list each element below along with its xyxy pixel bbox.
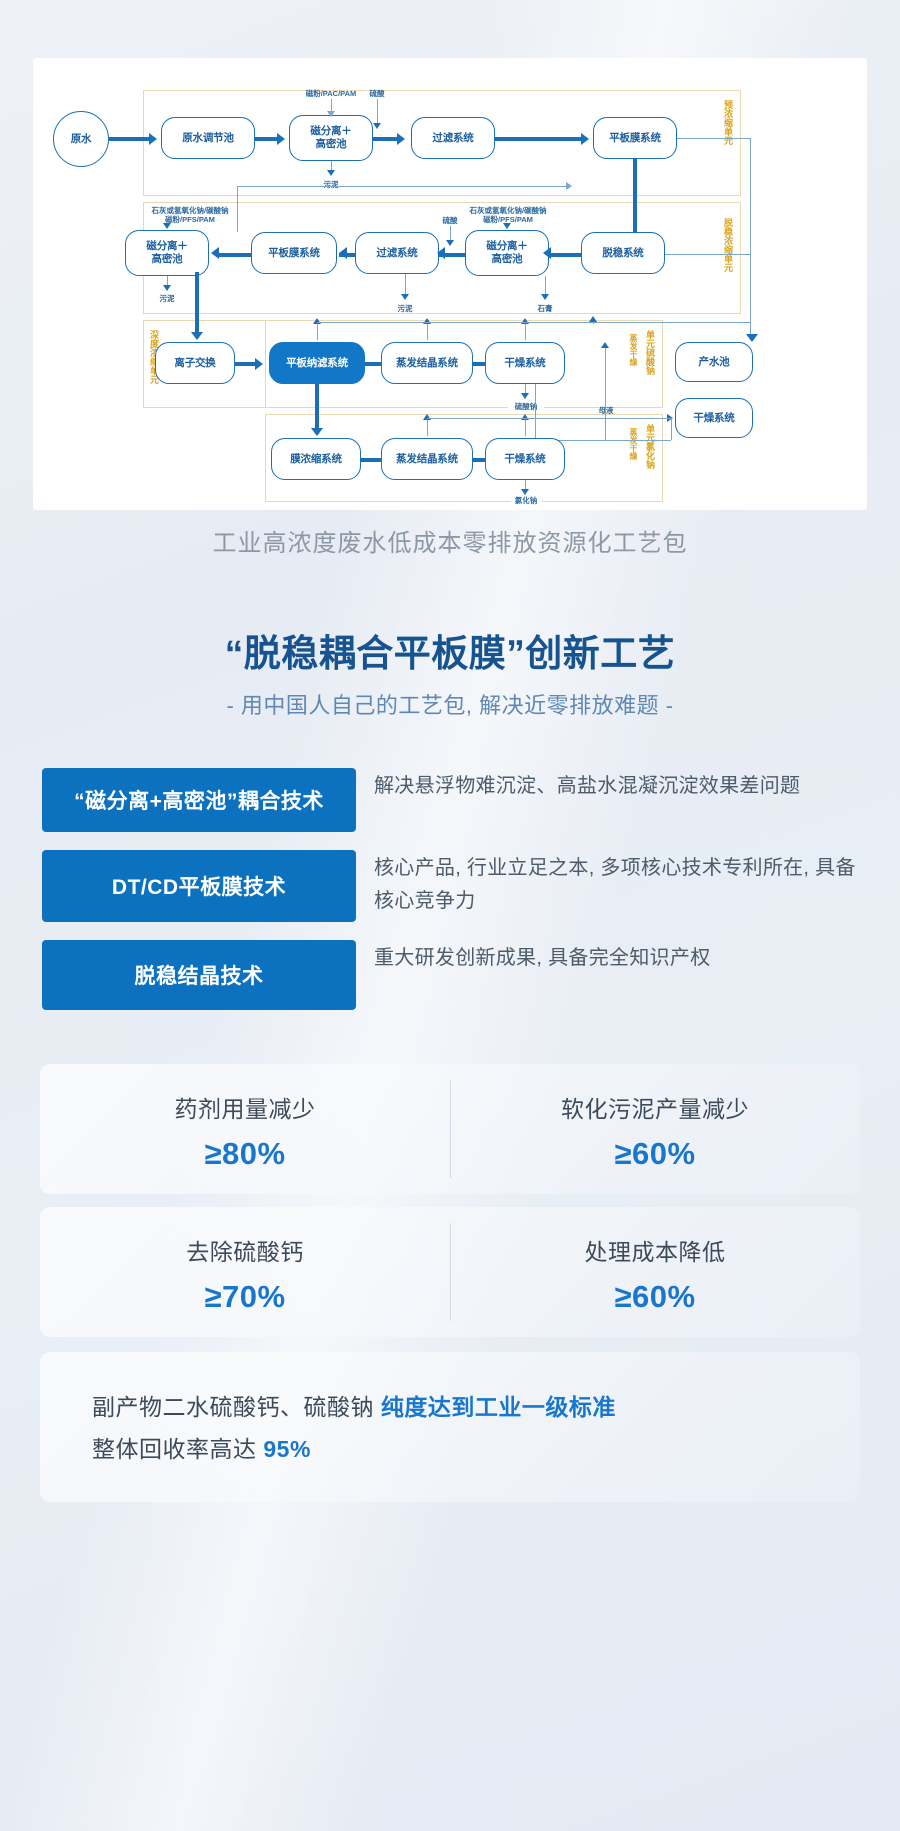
stat-label: 处理成本降低	[450, 1233, 860, 1267]
arrow-cond-nf	[313, 318, 321, 324]
conn-filt1-to-fm1	[495, 137, 585, 141]
stat-value: ≥60%	[450, 1279, 860, 1315]
arrow-na2so4	[521, 393, 529, 399]
arrow-mag2-down	[191, 332, 203, 340]
stat-item: 软化污泥产量减少 ≥60%	[450, 1064, 860, 1194]
arrow-acid1	[373, 123, 381, 129]
stat-item: 处理成本降低 ≥60%	[450, 1207, 860, 1337]
arrow-nf-down	[311, 428, 323, 436]
arrow-recycle-a	[566, 182, 572, 190]
conn-recycle-a-v	[237, 186, 238, 232]
node-mag-sep-hdt-2: 磁分离＋ 高密池	[125, 230, 209, 276]
stream-label-acid-2: 硫酸	[435, 216, 465, 225]
summary-line-2: 整体回收率高达 95%	[92, 1428, 860, 1470]
node-flat-membrane-2: 平板膜系统	[251, 232, 337, 274]
node-drying-1: 干燥系统	[485, 342, 565, 384]
arrow-nacl	[521, 489, 529, 495]
arrow-sludge1	[327, 170, 335, 176]
stat-label: 软化污泥产量减少	[450, 1090, 860, 1124]
technology-tag[interactable]: 脱稳结晶技术	[42, 940, 356, 1010]
summary-card: 副产物二水硫酸钙、硫酸钠 纯度达到工业一级标准 整体回收率高达 95%	[40, 1352, 860, 1502]
node-membrane-concentration: 膜浓缩系统	[271, 438, 361, 480]
stat-value: ≥80%	[40, 1136, 450, 1172]
stat-card: 去除硫酸钙 ≥70% 处理成本降低 ≥60%	[40, 1207, 860, 1337]
arrow-cond-dry2	[521, 414, 529, 420]
stream-label-sludge-1: 污泥	[316, 180, 346, 189]
arrow-cond-riser	[589, 316, 597, 322]
node-flat-nanofiltration: 平板纳滤系统	[269, 342, 365, 384]
summary-line-1-prefix: 副产物二水硫酸钙、硫酸钠	[92, 1394, 374, 1420]
node-filtration-1: 过滤系统	[411, 117, 495, 159]
technology-list: “磁分离+高密池”耦合技术 解决悬浮物难沉淀、高盐水混凝沉淀效果差问题 DT/C…	[42, 768, 862, 1028]
arrow-mother-riser	[601, 342, 609, 348]
arrow-filt2-to-fm2	[339, 247, 347, 259]
conn-row2-permeate-h	[665, 254, 751, 255]
conn-mother-up	[671, 418, 672, 440]
technology-description: 重大研发创新成果, 具备完全知识产权	[374, 940, 711, 975]
arrow-mag3-to-filt2	[437, 247, 445, 259]
arrow-mag1-to-filt1	[397, 133, 405, 145]
arrow-filt1-to-fm1	[581, 133, 589, 145]
conn-acid1	[377, 99, 378, 125]
stat-label: 去除硫酸钙	[40, 1233, 450, 1267]
unit-label-evaporation-drying-1: 蒸发干燥	[629, 334, 638, 366]
conn-recycle-a-h	[237, 186, 567, 187]
conn-cond-dry2	[525, 418, 526, 436]
technology-tag[interactable]: “磁分离+高密池”耦合技术	[42, 768, 356, 832]
conn-cond-evap1	[427, 322, 428, 340]
unit-label-destabilization: 脱稳浓缩单元	[723, 218, 733, 272]
summary-line-2-prefix: 整体回收率高达	[92, 1436, 257, 1462]
conn-mother-riser	[605, 348, 606, 440]
node-drying-side: 干燥系统	[675, 398, 753, 438]
summary-line-1: 副产物二水硫酸钙、硫酸钠 纯度达到工业一级标准	[92, 1386, 860, 1428]
node-filtration-2: 过滤系统	[355, 232, 439, 274]
arrow-acid2	[446, 240, 454, 246]
conn-mag2-down	[195, 272, 199, 338]
arrow-tank-to-mag1	[277, 133, 285, 145]
arrow-raw-to-tank	[149, 133, 157, 145]
arrow-dose1	[327, 111, 335, 117]
node-raw-water: 原水	[53, 111, 109, 167]
unit-label-sodium-chloride: 单元氯化钠	[645, 424, 655, 469]
summary-line-2-highlight: 95%	[263, 1436, 311, 1462]
arrow-ie-to-nf	[255, 358, 263, 370]
node-evap-cryst-1: 蒸发结晶系统	[381, 342, 473, 384]
conn-destab-to-mag3	[549, 253, 581, 257]
conn-cond-evap2	[427, 418, 428, 436]
stat-value: ≥60%	[450, 1136, 860, 1172]
stream-label-sludge-2: 污泥	[152, 294, 182, 303]
stream-label-dose-2: 石灰或氢氧化钠/碳酸钠 磁粉/PFS/PAM	[115, 206, 265, 224]
conn-fm1-down	[633, 159, 637, 239]
stream-label-sodium-sulfate: 硫酸钠	[508, 402, 544, 411]
arrow-cond-evap1	[423, 318, 431, 324]
conn-fm1-permeate-h	[677, 138, 751, 139]
conn-mother-v	[535, 384, 536, 440]
technology-row: 脱稳结晶技术 重大研发创新成果, 具备完全知识产权	[42, 940, 862, 1010]
conn-nf-down	[315, 384, 319, 434]
node-mag-sep-hdt-3-label: 磁分离＋ 高密池	[486, 240, 527, 266]
node-mag-sep-hdt-1-label: 磁分离＋ 高密池	[310, 125, 351, 151]
node-product-water-pool: 产水池	[675, 342, 753, 382]
conn-fm1-permeate-v	[750, 138, 751, 340]
stat-item: 去除硫酸钙 ≥70%	[40, 1207, 450, 1337]
conn-cond-bus-2	[427, 418, 671, 419]
flowchart-canvas: 预浓缩单元 脱稳浓缩单元 深度浓缩单元 单元硫酸钠 蒸发干燥 单元氯化钠 蒸发干…	[33, 58, 867, 510]
process-flowchart-card: 预浓缩单元 脱稳浓缩单元 深度浓缩单元 单元硫酸钠 蒸发干燥 单元氯化钠 蒸发干…	[33, 58, 867, 510]
node-destabilization: 脱稳系统	[581, 232, 665, 274]
stream-label-acid-1: 硫酸	[360, 89, 394, 98]
node-mag-sep-hdt-2-label: 磁分离＋ 高密池	[146, 240, 187, 266]
arrow-fm2-to-mag2	[211, 247, 219, 259]
stream-label-gypsum: 石膏	[530, 304, 560, 313]
node-mag-sep-hdt-3: 磁分离＋ 高密池	[465, 230, 549, 276]
arrow-destab-to-mag3	[543, 247, 551, 259]
stat-label: 药剂用量减少	[40, 1090, 450, 1124]
node-raw-water-tank: 原水调节池	[161, 117, 255, 159]
arrow-cond-evap2	[423, 414, 431, 420]
page-subtitle: - 用中国人自己的工艺包, 解决近零排放难题 -	[0, 688, 900, 720]
technology-row: DT/CD平板膜技术 核心产品, 行业立足之本, 多项核心技术专利所在, 具备核…	[42, 850, 862, 922]
technology-tag[interactable]: DT/CD平板膜技术	[42, 850, 356, 922]
stream-label-sludge-3: 污泥	[390, 304, 420, 313]
node-mag-sep-hdt-1: 磁分离＋ 高密池	[289, 115, 373, 161]
technology-description: 核心产品, 行业立足之本, 多项核心技术专利所在, 具备核心竞争力	[374, 850, 862, 918]
arrow-dose3	[503, 223, 511, 229]
arrow-sludge3	[401, 294, 409, 300]
arrow-to-product-water	[746, 334, 758, 342]
summary-line-1-highlight: 纯度达到工业一级标准	[381, 1394, 616, 1420]
arrow-dose2	[163, 223, 171, 229]
unit-label-sodium-sulfate: 单元硫酸钠	[645, 330, 655, 375]
unit-label-evaporation-drying-2: 蒸发干燥	[629, 428, 638, 460]
stat-card: 药剂用量减少 ≥80% 软化污泥产量减少 ≥60%	[40, 1064, 860, 1194]
arrow-gypsum	[541, 294, 549, 300]
conn-fm2-to-mag2	[219, 253, 251, 257]
conn-cond-nf	[317, 322, 318, 340]
conn-cond-riser	[593, 322, 594, 324]
stream-label-sodium-chloride: 氯化钠	[511, 496, 541, 505]
node-evap-cryst-2: 蒸发结晶系统	[381, 438, 473, 480]
node-drying-2: 干燥系统	[485, 438, 565, 480]
node-flat-membrane-1: 平板膜系统	[593, 117, 677, 159]
technology-description: 解决悬浮物难沉淀、高盐水混凝沉淀效果差问题	[374, 768, 800, 803]
conn-cond-bus-1	[317, 322, 751, 323]
conn-raw-to-tank	[109, 137, 151, 141]
technology-row: “磁分离+高密池”耦合技术 解决悬浮物难沉淀、高盐水混凝沉淀效果差问题	[42, 768, 862, 832]
stat-item: 药剂用量减少 ≥80%	[40, 1064, 450, 1194]
arrow-cond-dry1	[521, 318, 529, 324]
node-ion-exchange: 离子交换	[155, 342, 235, 384]
page-title: “脱稳耦合平板膜”创新工艺	[0, 623, 900, 677]
stream-label-mother-liquor: 母液	[591, 406, 621, 415]
arrow-sludge2	[163, 285, 171, 291]
conn-cond-dry1	[525, 322, 526, 340]
stat-value: ≥70%	[40, 1279, 450, 1315]
flowchart-caption: 工业高浓度废水低成本零排放资源化工艺包	[0, 523, 900, 558]
